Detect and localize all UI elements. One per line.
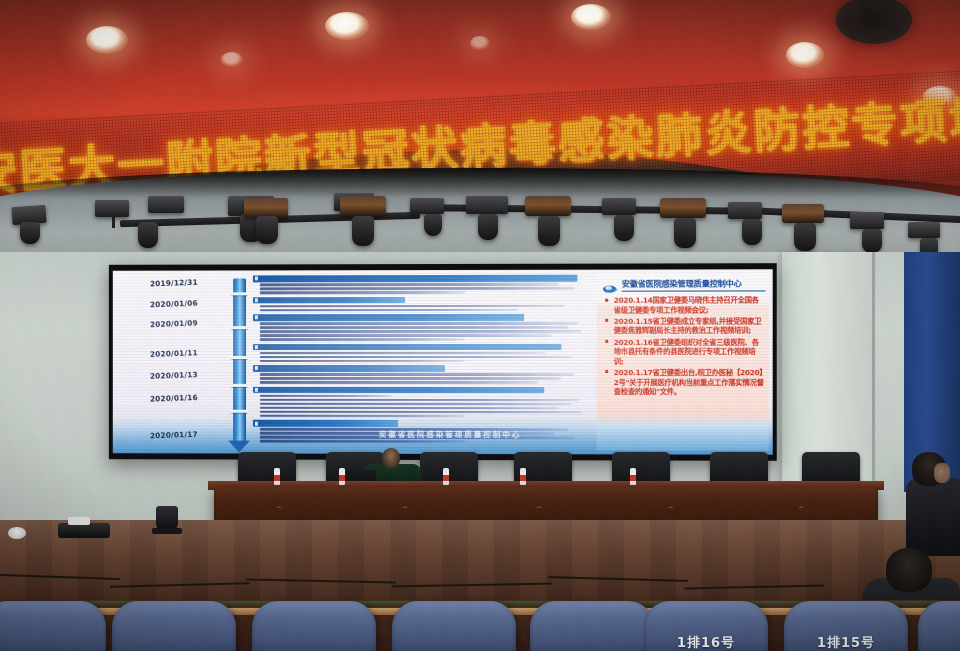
slide-section-header [253,297,405,304]
stage-light-icon [674,218,696,248]
water-bottle-icon[interactable] [520,468,526,485]
stage-light-icon [794,223,816,251]
slide-bullet: 2020.1.17省卫健委出台,皖卫办医秘【2020】2号"关于开展医疗机构当前… [605,368,765,397]
slide-right-panel: 安徽省医院感染管理质量控制中心 2020.1.14国家卫健委马晓伟主持召开全国各… [597,273,769,450]
stage-light-icon [138,222,158,248]
seat-number-label: 1排15号 [784,632,908,651]
slide-section-header [253,420,398,427]
slide-section-header [253,275,578,282]
auditorium-seat[interactable] [918,601,960,651]
auditorium-seat[interactable] [530,601,654,651]
timeline-date: 2020/01/09 [119,317,230,330]
slide-text-line [260,291,465,294]
attendee-face [934,463,950,483]
timeline-arrow [233,278,246,441]
stage-light-icon [410,198,444,214]
slide-section-header [253,344,561,351]
slide-text-line [260,334,552,337]
stage-light-icon [602,198,636,215]
slide-bullet: 2020.1.14国家卫健委马晓伟主持召开全国各省级卫健委专项工作视频会议; [605,295,765,315]
stage-light-icon [862,229,882,253]
water-bottle-icon[interactable] [630,468,636,485]
auditorium-seat[interactable] [112,601,236,651]
stage-light-warm-fixture-icon [525,196,571,216]
stage-light-warm-fixture-icon [244,198,288,218]
seat-number-label: 1排16号 [644,632,768,651]
downlight-icon [221,52,243,67]
slide-panel-bullet-list: 2020.1.14国家卫健委马晓伟主持召开全国各省级卫健委专项工作视频会议; 2… [605,295,765,398]
cable-reel-icon [8,527,26,539]
slide-panel-title: 安徽省医院感染管理质量控制中心 [622,278,766,291]
stage-light-warm-fixture-icon [660,198,706,218]
attendee-torso [906,478,960,556]
attendee-head [886,548,932,592]
slide-text-line [260,395,392,398]
slide-text-line [260,326,568,329]
stage-light-icon [538,216,560,246]
lamp-stem [112,216,115,228]
timeline-date-column: 2019/12/31 2020/01/06 2020/01/09 2020/01… [119,276,229,443]
floor-reflection [0,520,960,610]
timeline-notch [231,326,248,329]
slide-section-header [253,314,524,321]
auditorium-seat-16[interactable]: 1排16号 [644,601,768,651]
institution-emblem-icon [603,280,619,291]
projection-screen: 2019/12/31 2020/01/06 2020/01/09 2020/01… [109,263,777,461]
slide-text-line [260,411,582,414]
timeline-notch [231,410,248,413]
moving-head-base-icon [152,528,182,534]
slide-text-line [260,304,565,307]
stage-light-warm-fixture-icon [340,196,386,216]
stage-light-icon [742,219,762,245]
stage-light-icon [95,200,129,217]
timeline-date: 2020/01/06 [119,297,230,310]
slide-section-header [253,387,544,394]
slide-surface: 2019/12/31 2020/01/06 2020/01/09 2020/01… [113,269,773,455]
downlight-icon [571,4,611,30]
slide-text-line [260,414,465,417]
slide-text-line [260,377,562,380]
stage-light-icon [614,215,634,241]
slide-text-line [260,322,578,325]
slide-text-line [260,373,575,376]
slide-text-line [260,330,582,333]
slide-text-line [260,352,545,355]
timeline-notch [231,356,248,359]
slide-text-line [260,283,558,286]
slide-text-line [260,356,572,359]
timeline-date: 2020/01/17 [119,429,230,442]
slide-bullet: 2020.1.16省卫健委组织对全省三级医院、各地市县托有条件的县医院进行专项工… [605,337,765,366]
slide-text-line [260,381,538,384]
fog-machine-icon [58,523,110,538]
slide-footer-watermark: 安徽省医院感染管理质量控制中心 [261,429,641,441]
timeline-date: 2020/01/11 [119,347,230,360]
auditorium-seat[interactable] [0,601,106,651]
slide-text-line [260,440,465,443]
auditorium-seat[interactable] [392,601,516,651]
moving-head-light-icon [156,506,178,530]
slide-section-header [253,365,445,372]
stage-light-icon [466,196,508,214]
stage-light-icon [352,216,374,246]
water-bottle-icon[interactable] [339,468,345,485]
fog-machine-top-icon [68,517,90,525]
stage-light-icon [256,216,278,244]
stage-light-icon [148,196,184,213]
stage-light-icon [728,202,762,219]
stage-light-icon [20,222,40,244]
auditorium-seat[interactable] [252,601,376,651]
slide-text-line [260,403,572,406]
downlight-icon [786,42,824,68]
timeline-date: 2019/12/31 [119,277,230,290]
timeline-notch [231,384,248,387]
slide-text-line [260,308,518,311]
slide-bullet: 2020.1.15省卫健委成立专家组,并接受国家卫健委焦雅辉副局长主持的救治工作… [605,316,765,336]
water-bottle-icon[interactable] [443,468,449,485]
stage-light-icon [424,214,442,236]
presenter-head [382,448,400,468]
slide-text-line [260,399,578,402]
auditorium-seat-15[interactable]: 1排15号 [784,601,908,651]
slide-text-line [260,338,465,341]
downlight-icon [86,26,128,54]
water-bottle-icon[interactable] [274,468,280,485]
slide-body-text [253,275,585,450]
slide-text-line [260,360,465,363]
stage-light-icon [850,212,884,229]
conference-hall-photo: 安医大一附院新型冠状病毒感染肺炎防控专项培训 [0,0,960,651]
slide-text-line [260,287,575,290]
downlight-icon [470,36,490,50]
timeline-date: 2020/01/16 [119,392,230,405]
slide-text-line [260,407,558,410]
downlight-icon [325,12,369,40]
stage-light-warm-fixture-icon [782,204,824,223]
downlight-icon [922,86,958,110]
timeline-date: 2020/01/13 [119,369,230,382]
timeline-notch [231,292,248,295]
stage-light-icon [478,214,498,240]
stage-light-icon [908,222,940,238]
